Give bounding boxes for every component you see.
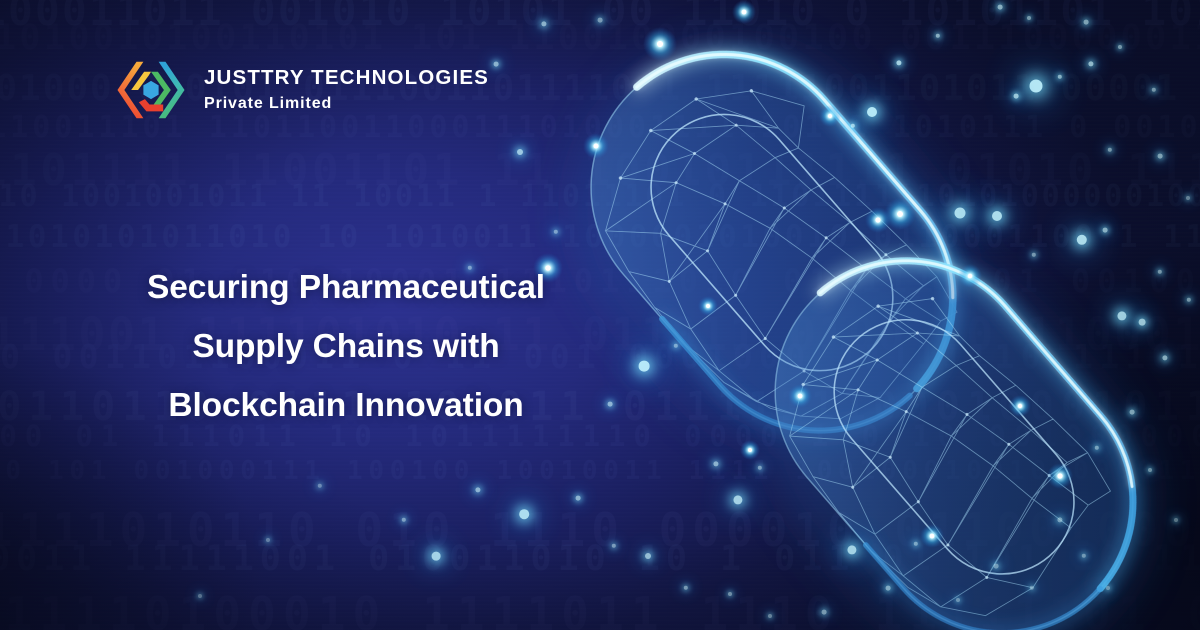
particle-dot	[318, 484, 322, 488]
brand-logo-text: JUSTTRY TECHNOLOGIES Private Limited	[204, 66, 489, 113]
headline-line-2: Supply Chains with	[96, 317, 596, 376]
particle-dot	[768, 614, 772, 618]
headline: Securing Pharmaceutical Supply Chains wi…	[96, 258, 596, 435]
particle-dot	[955, 208, 966, 219]
particle-dot	[936, 34, 940, 38]
particle-dot	[494, 62, 499, 67]
company-suffix: Private Limited	[204, 94, 489, 114]
particle-dot	[598, 18, 603, 23]
particle-dot	[541, 21, 546, 26]
particle-dot	[822, 610, 827, 615]
particle-dot	[956, 598, 960, 602]
particle-dot	[1057, 517, 1062, 522]
particle-dot	[886, 586, 891, 591]
particle-dot	[998, 5, 1003, 10]
particle-dot	[612, 544, 616, 548]
particle-dot	[1027, 16, 1031, 20]
particle-dot	[1108, 148, 1112, 152]
particle-dot	[1077, 235, 1087, 245]
particle-dot	[1174, 518, 1178, 522]
particle-dot	[1158, 154, 1163, 159]
particle-dot	[1118, 45, 1122, 49]
particle-dot	[1058, 75, 1062, 79]
headline-line-3: Blockchain Innovation	[96, 376, 596, 435]
particle-dot	[1082, 554, 1086, 558]
particle-dot	[867, 107, 877, 117]
particle-dot	[896, 60, 901, 65]
particle-dot	[1103, 228, 1108, 233]
particle-dot	[1088, 61, 1093, 66]
particle-dot	[475, 487, 480, 492]
justtry-hexagon-logo-mark	[112, 58, 190, 122]
particle-dot	[402, 518, 406, 522]
particle-dot	[1148, 468, 1152, 472]
particle-dot	[1095, 446, 1099, 450]
particle-dot	[914, 542, 918, 546]
particle-dot	[674, 344, 678, 348]
particle-dot	[758, 466, 762, 470]
particle-dot	[198, 594, 202, 598]
particle-dot	[713, 461, 718, 466]
particle-dot	[994, 564, 999, 569]
headline-line-1: Securing Pharmaceutical	[96, 258, 596, 317]
particle-dot	[1130, 410, 1135, 415]
particle-dot	[645, 553, 651, 559]
particle-dot	[1187, 298, 1191, 302]
particle-dot	[1117, 311, 1126, 320]
particle-dot	[1030, 586, 1034, 590]
particle-dot	[608, 402, 613, 407]
particle-dot	[684, 586, 688, 590]
particle-dot	[1030, 80, 1043, 93]
particle-dot	[1014, 94, 1019, 99]
particle-dot	[519, 509, 529, 519]
particle-dot	[1106, 586, 1110, 590]
particle-dot	[1032, 253, 1036, 257]
particle-dot	[266, 538, 270, 542]
particle-dot	[1152, 88, 1156, 92]
particle-dot	[576, 496, 581, 501]
particle-dot	[992, 211, 1002, 221]
particle-dot	[639, 361, 650, 372]
particle-dot	[1158, 270, 1162, 274]
particle-dot	[1139, 319, 1146, 326]
particle-dot	[733, 495, 742, 504]
particle-dot	[851, 124, 855, 128]
particle-dot	[554, 230, 558, 234]
company-name: JUSTTRY TECHNOLOGIES	[204, 66, 489, 90]
particle-dot	[1162, 355, 1167, 360]
particle-dot	[728, 592, 732, 596]
blog-banner: 100011011 001010 10101 00 11010 0 101011…	[0, 0, 1200, 630]
brand-logo[interactable]: JUSTTRY TECHNOLOGIES Private Limited	[112, 58, 489, 122]
particle-dot	[517, 149, 523, 155]
particle-dot	[847, 545, 856, 554]
particle-dot	[1084, 20, 1089, 25]
particle-dot	[1186, 196, 1190, 200]
particle-dot	[432, 552, 441, 561]
